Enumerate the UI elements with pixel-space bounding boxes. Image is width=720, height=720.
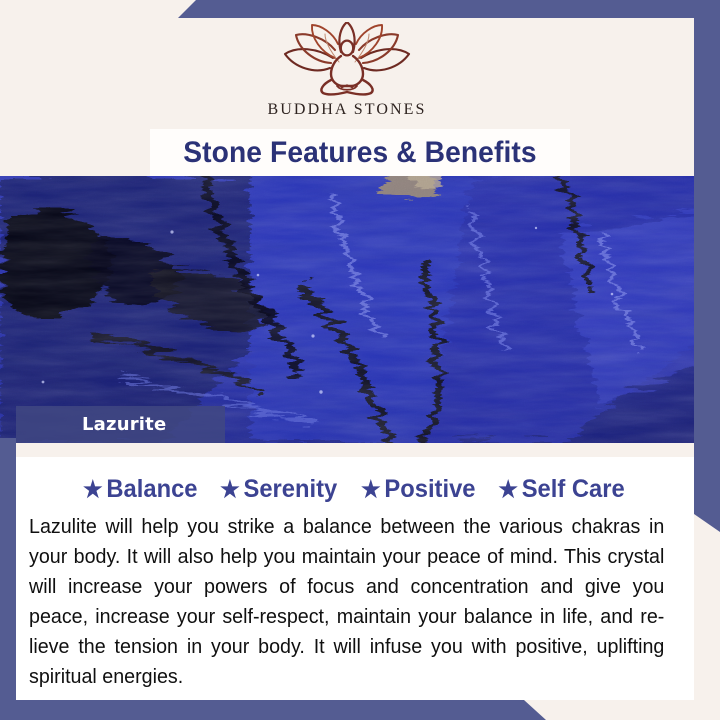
content-panel: ★ Balance ★ Serenity ★ Positive ★ Self C… bbox=[16, 443, 694, 700]
panel-top-accent bbox=[16, 443, 694, 457]
stone-name: Lazurite bbox=[82, 414, 166, 435]
benefit-label: Serenity bbox=[244, 475, 338, 504]
lazurite-stone-photo bbox=[0, 176, 720, 443]
star-icon: ★ bbox=[361, 478, 381, 501]
benefit-item: ★ Serenity bbox=[220, 475, 337, 504]
page-title: Stone Features & Benefits bbox=[183, 136, 536, 170]
benefits-list: ★ Balance ★ Serenity ★ Positive ★ Self C… bbox=[16, 475, 694, 504]
stone-description: Lazulite will help you strike a balance … bbox=[29, 512, 664, 692]
decorative-right-bar bbox=[694, 0, 720, 532]
benefit-item: ★ Balance bbox=[83, 475, 197, 504]
stone-name-chip: Lazurite bbox=[16, 406, 225, 443]
stone-texture-graphic bbox=[0, 176, 720, 443]
title-band: Stone Features & Benefits bbox=[150, 129, 570, 176]
lotus-meditation-icon bbox=[273, 22, 421, 96]
star-icon: ★ bbox=[498, 478, 518, 501]
benefit-label: Balance bbox=[106, 475, 197, 504]
star-icon: ★ bbox=[83, 478, 103, 501]
brand-name: BUDDHA STONES bbox=[267, 101, 426, 119]
decorative-left-bar bbox=[0, 438, 16, 720]
decorative-bottom-bar bbox=[0, 700, 720, 720]
benefit-item: ★ Positive bbox=[361, 475, 475, 504]
star-icon: ★ bbox=[220, 478, 240, 501]
infographic-card: BUDDHA STONES Stone Features & Benefits bbox=[0, 0, 720, 720]
benefit-item: ★ Self Care bbox=[498, 475, 624, 504]
benefit-label: Positive bbox=[384, 475, 475, 504]
benefit-label: Self Care bbox=[522, 475, 625, 504]
brand-logo: BUDDHA STONES bbox=[0, 22, 694, 119]
